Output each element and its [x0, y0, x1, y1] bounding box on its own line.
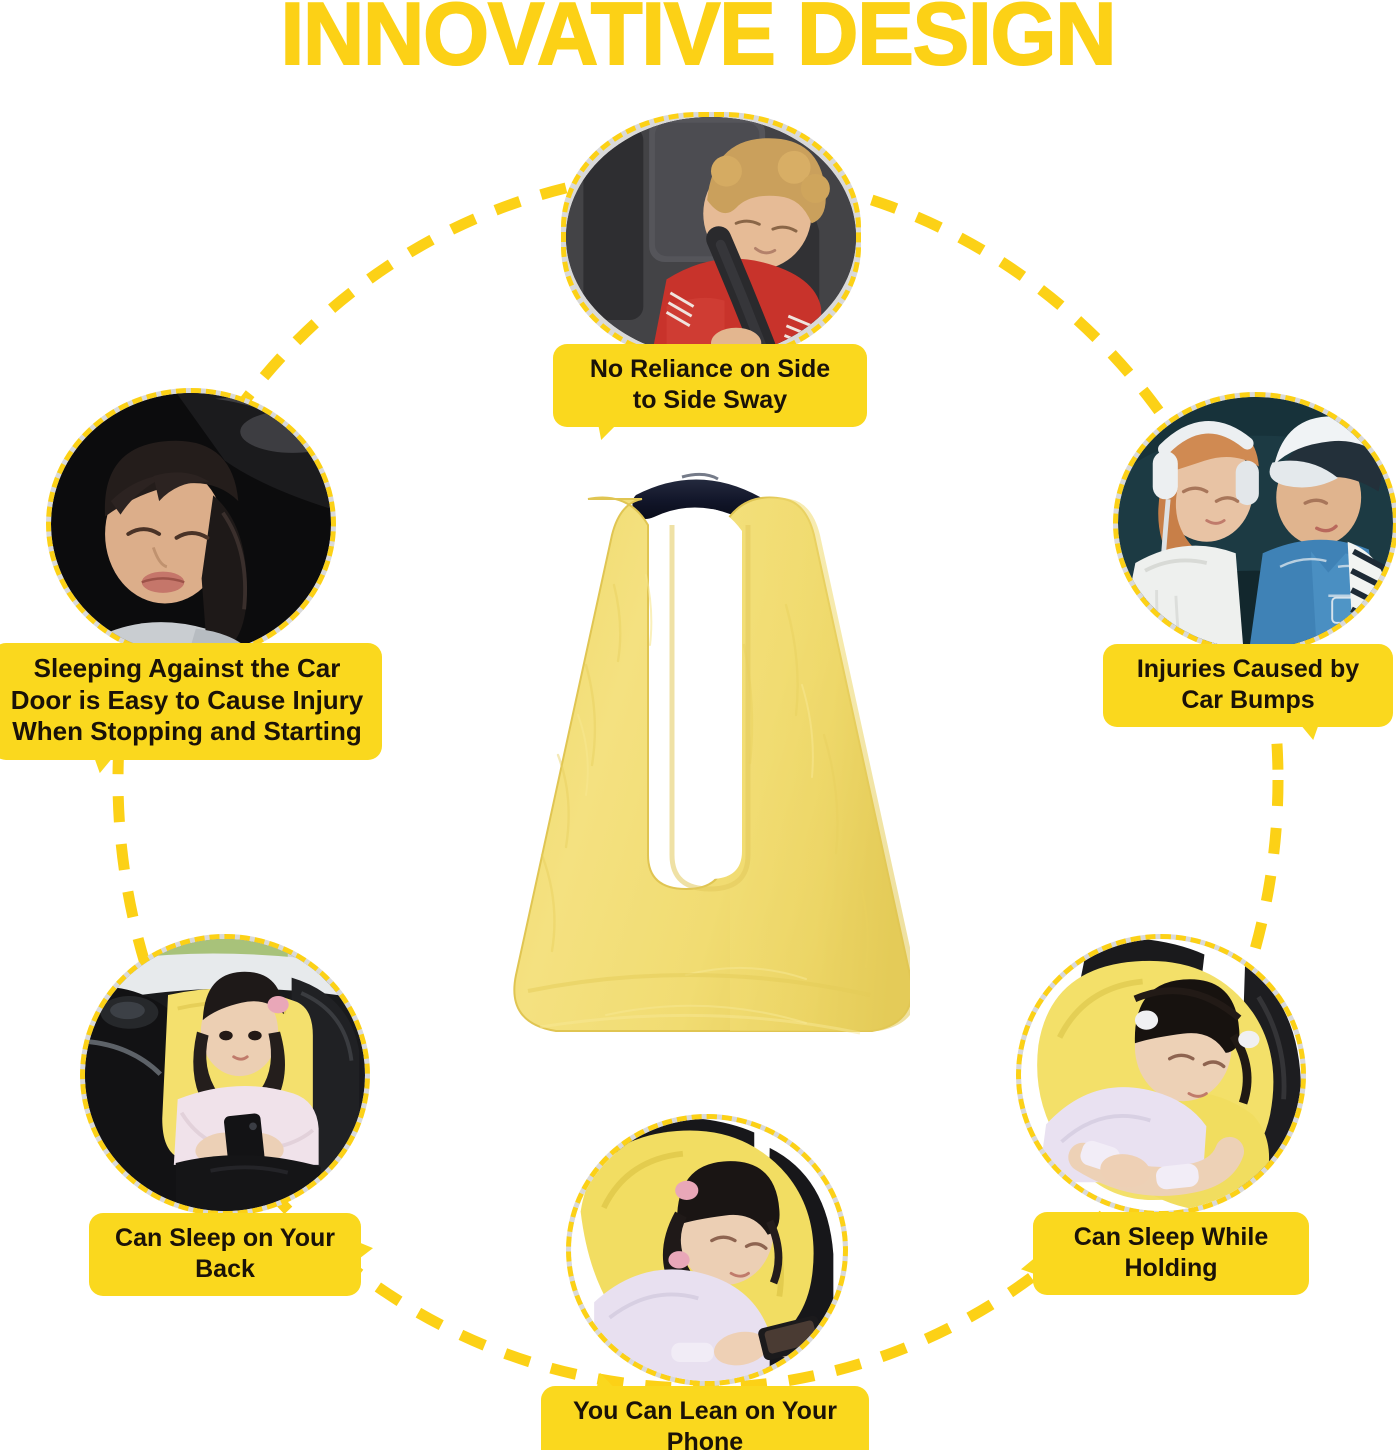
- feature-photo-car-door-injury: [46, 388, 336, 660]
- pillow-svg: [486, 455, 910, 1105]
- feature-label-sleep-while-holding: Can Sleep While Holding: [1033, 1212, 1309, 1295]
- label-line-2: to Side Sway: [633, 386, 787, 414]
- photo-girl-reclining-with-phone: [85, 939, 365, 1211]
- feature-photo-lean-on-phone: [566, 1114, 848, 1386]
- label-line-1: Injuries Caused by: [1137, 655, 1359, 683]
- infographic-canvas: INNOVATIVE DESIGN: [0, 0, 1396, 1450]
- label-tail: [1295, 718, 1321, 740]
- label-tail: [351, 1239, 373, 1265]
- label-line-1: Can Sleep While: [1074, 1223, 1268, 1251]
- label-line-1: You Can Lean on Your: [573, 1397, 837, 1425]
- label-line-3: When Stopping and Starting: [12, 716, 362, 746]
- feature-label-car-bump-injuries: Injuries Caused by Car Bumps: [1103, 644, 1393, 727]
- feature-label-lean-on-phone: You Can Lean on Your Phone: [541, 1386, 869, 1450]
- photo-toddler-asleep-seatbelt: [566, 117, 856, 357]
- label-line-1: Can Sleep on Your: [115, 1224, 335, 1252]
- label-tail: [597, 418, 623, 440]
- feature-photo-no-side-sway: [561, 112, 861, 362]
- feature-label-car-door-injury: Sleeping Against the Car Door is Easy to…: [0, 643, 382, 760]
- product-image-sleep-pillow: [486, 455, 910, 1105]
- label-line-1: No Reliance on Side: [590, 355, 830, 383]
- label-tail: [595, 1373, 621, 1395]
- photo-girl-hugging-pillow-asleep: [1021, 939, 1301, 1211]
- feature-photo-sleep-on-back: [80, 934, 370, 1216]
- pillow-slot: [678, 509, 742, 879]
- feature-label-no-side-sway: No Reliance on Side to Side Sway: [553, 344, 867, 427]
- label-line-2: Car Bumps: [1181, 686, 1314, 714]
- label-line-2: Back: [195, 1255, 255, 1283]
- photo-girl-leaning-forward-phone: [571, 1119, 843, 1381]
- feature-photo-car-bump-injuries: [1113, 392, 1396, 654]
- photo-girl-head-tilted-back: [51, 393, 331, 655]
- feature-photo-sleep-while-holding: [1016, 934, 1306, 1216]
- label-line-2: Phone: [667, 1428, 743, 1450]
- page-title: INNOVATIVE DESIGN: [28, 0, 1368, 78]
- label-tail: [1021, 1251, 1043, 1277]
- photo-two-kids-asleep-seat: [1118, 397, 1393, 649]
- label-tail: [92, 751, 118, 773]
- label-line-2: Holding: [1124, 1254, 1217, 1282]
- feature-label-sleep-on-back: Can Sleep on Your Back: [89, 1213, 361, 1296]
- label-line-1: Sleeping Against the Car: [34, 653, 341, 683]
- label-line-2: Door is Easy to Cause Injury: [11, 685, 364, 715]
